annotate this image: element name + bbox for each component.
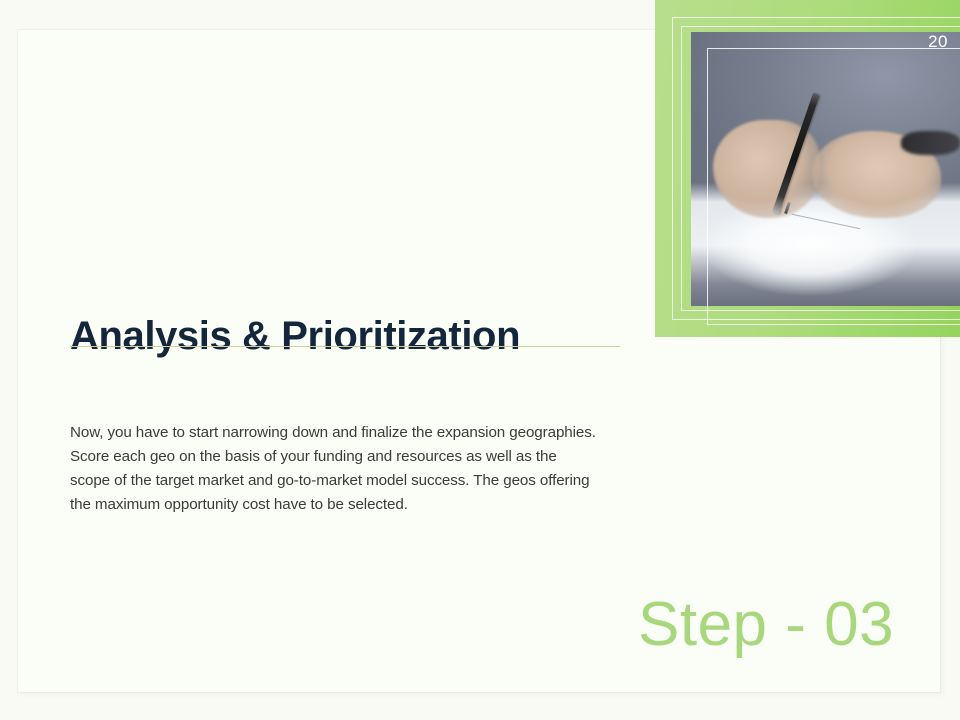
slide-canvas: 20 Analysis & Prioritization Now, you ha… [0, 0, 960, 720]
body-paragraph: Now, you have to start narrowing down an… [70, 421, 600, 517]
page-number: 20 [928, 32, 948, 52]
step-label: Step - 03 [638, 594, 894, 656]
sleeve-cuff-shape [901, 131, 960, 156]
title-divider [70, 346, 620, 347]
pen-stroke-line [791, 214, 860, 230]
hero-photo-image [691, 32, 960, 306]
page-title: Analysis & Prioritization [70, 315, 520, 357]
hero-photo [691, 32, 960, 306]
